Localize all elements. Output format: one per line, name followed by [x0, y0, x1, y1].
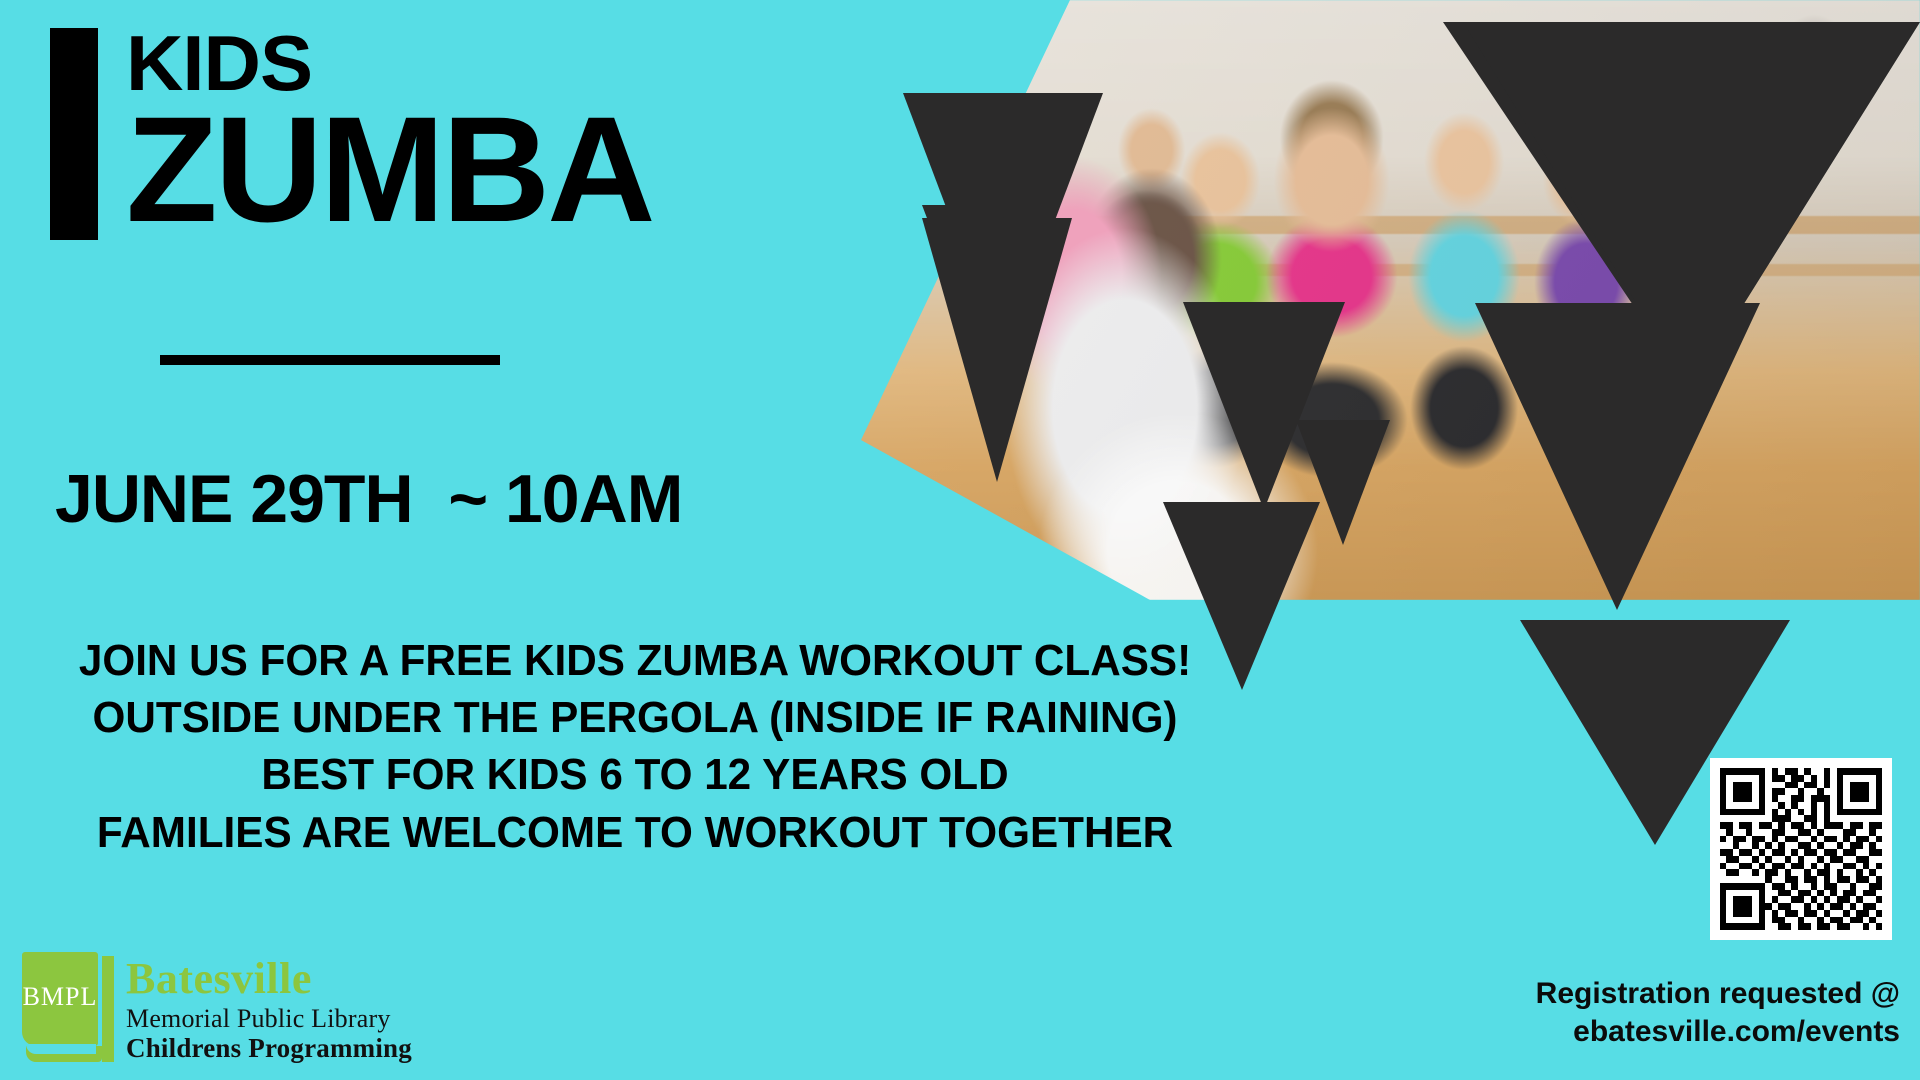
book-notch — [26, 1044, 96, 1054]
book-abbreviation: BMPL — [22, 982, 98, 1012]
logo-department: Childrens Programming — [126, 1035, 412, 1062]
registration-line-1: Registration requested @ — [1180, 975, 1900, 1013]
registration-note: Registration requested @ ebatesville.com… — [1180, 975, 1900, 1052]
book-icon: BMPL — [22, 952, 114, 1062]
description-line-3: BEST FOR KIDS 6 TO 12 YEARS OLD — [25, 746, 1244, 803]
flyer-canvas: KIDS ZUMBA JUNE 29TH ~ 10AM JOIN US FOR … — [0, 0, 1920, 1080]
divider-rule — [160, 355, 500, 365]
logo-name: Batesville — [126, 957, 412, 1001]
headline-text: KIDS ZUMBA — [126, 28, 653, 237]
headline-accent-bar — [50, 28, 98, 240]
headline-block: KIDS ZUMBA — [50, 28, 653, 240]
registration-line-2: ebatesville.com/events — [1180, 1013, 1900, 1051]
event-datetime: JUNE 29TH ~ 10AM — [55, 460, 682, 538]
event-description: JOIN US FOR A FREE KIDS ZUMBA WORKOUT CL… — [0, 632, 1270, 861]
logo-text-block: Batesville Memorial Public Library Child… — [126, 957, 412, 1062]
headline-kicker: KIDS — [126, 28, 663, 100]
zumba-class-photo — [860, 0, 1920, 600]
library-logo: BMPL Batesville Memorial Public Library … — [22, 952, 412, 1062]
description-line-4: FAMILIES ARE WELCOME TO WORKOUT TOGETHER — [25, 804, 1244, 861]
headline-title: ZUMBA — [126, 102, 653, 237]
book-spine — [102, 956, 114, 1062]
description-line-2: OUTSIDE UNDER THE PERGOLA (INSIDE IF RAI… — [25, 689, 1244, 746]
qr-code-grid — [1720, 768, 1882, 930]
logo-subtitle: Memorial Public Library — [126, 1006, 412, 1032]
photo-overlay — [860, 0, 1920, 600]
qr-code[interactable] — [1710, 758, 1892, 940]
description-line-1: JOIN US FOR A FREE KIDS ZUMBA WORKOUT CL… — [25, 632, 1244, 689]
